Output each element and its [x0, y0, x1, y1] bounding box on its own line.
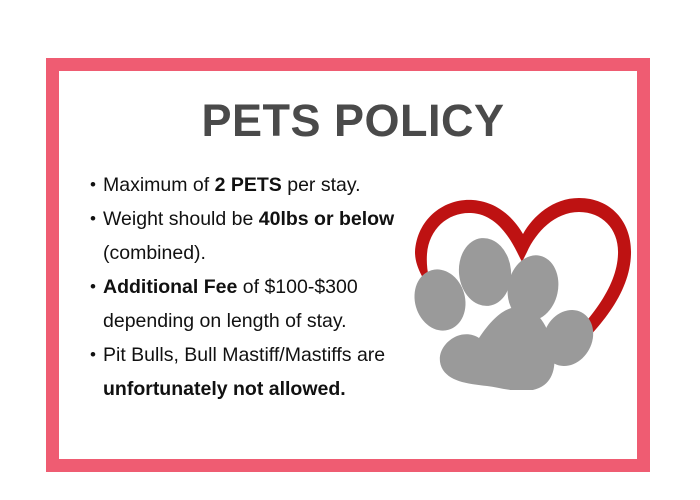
list-item: •Maximum of 2 PETS per stay.: [88, 168, 418, 202]
policy-bullet-list: •Maximum of 2 PETS per stay.•Weight shou…: [88, 168, 418, 406]
list-item: •Additional Fee of $100-$300depending on…: [88, 270, 418, 338]
bullet-marker-icon: •: [90, 338, 96, 372]
body-text: per stay.: [282, 174, 361, 196]
list-item-line: Maximum of 2 PETS per stay.: [103, 168, 418, 202]
body-text: depending on length of stay.: [103, 310, 347, 332]
list-item-line: depending on length of stay.: [103, 304, 418, 338]
list-item: •Weight should be 40lbs or below(combine…: [88, 202, 418, 270]
list-item-line: (combined).: [103, 236, 418, 270]
body-text: Pit Bulls, Bull Mastiff/Mastiffs are: [103, 344, 385, 366]
list-item-line: Additional Fee of $100-$300: [103, 270, 418, 304]
list-item-line: unfortunately not allowed.: [103, 372, 418, 406]
list-item-line: Weight should be 40lbs or below: [103, 202, 418, 236]
page-title: PETS POLICY: [60, 98, 646, 143]
body-text: (combined).: [103, 242, 206, 264]
bullet-marker-icon: •: [90, 168, 96, 202]
pets-policy-poster: PETS POLICY •Maximum of 2 PETS per stay.…: [0, 0, 700, 500]
emphasis-text: unfortunately not allowed.: [103, 378, 346, 400]
bullet-marker-icon: •: [90, 202, 96, 236]
emphasis-text: 40lbs or below: [259, 208, 394, 230]
list-item: •Pit Bulls, Bull Mastiff/Mastiffs areunf…: [88, 338, 418, 406]
body-text: Maximum of: [103, 174, 215, 196]
bullet-marker-icon: •: [90, 270, 96, 304]
emphasis-text: 2 PETS: [215, 174, 282, 196]
list-item-line: Pit Bulls, Bull Mastiff/Mastiffs are: [103, 338, 418, 372]
body-text: of $100-$300: [237, 276, 357, 298]
emphasis-text: Additional Fee: [103, 276, 237, 298]
heart-paw-logo: [403, 190, 635, 390]
body-text: Weight should be: [103, 208, 259, 230]
